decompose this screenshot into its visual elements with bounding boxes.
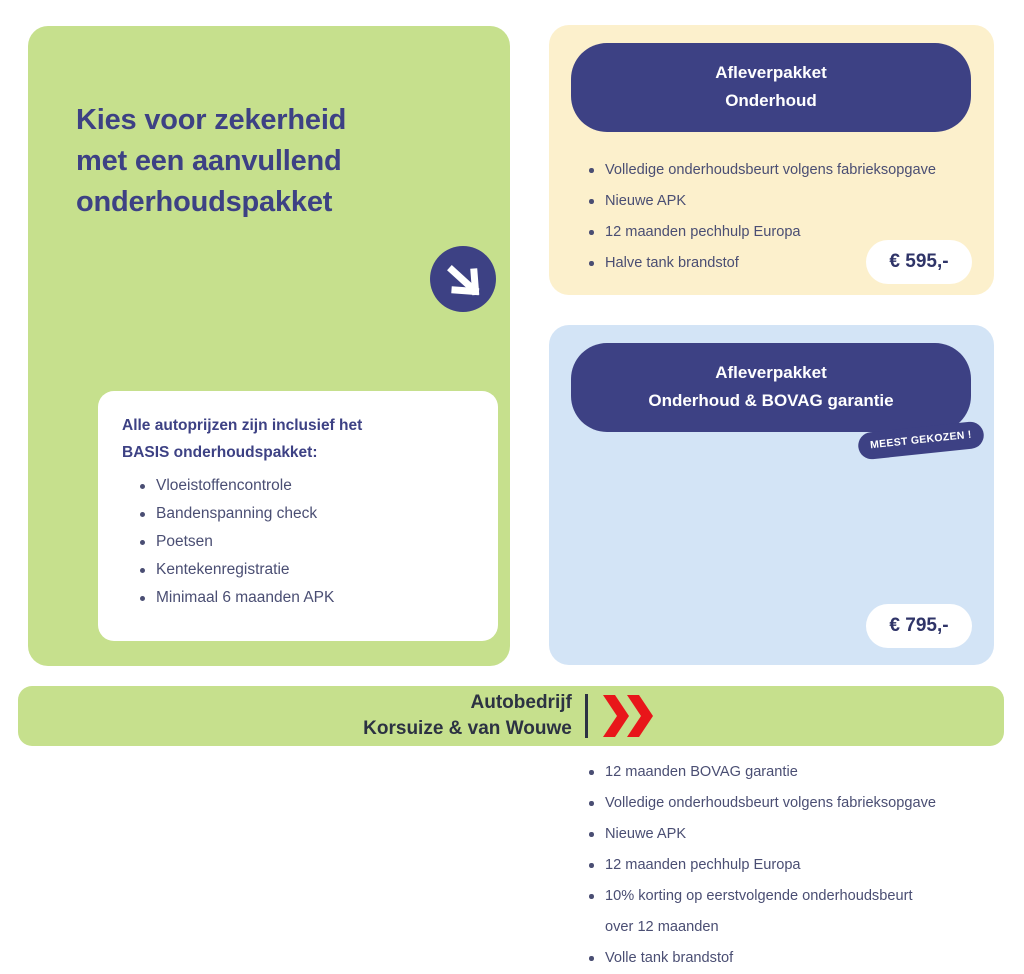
list-item: Nieuwe APK [605, 186, 1024, 217]
list-item: Volle tank brandstof [605, 943, 1024, 974]
basis-package-title: Alle autoprijzen zijn inclusief het BASI… [122, 413, 474, 466]
list-item: Bandenspanning check [156, 500, 474, 528]
page-title: Kies voor zekerheid met een aanvullend o… [76, 100, 446, 224]
list-item: Minimaal 6 maanden APK [156, 584, 474, 612]
package-header-line-2: Onderhoud & BOVAG garantie [571, 387, 971, 415]
list-item: 12 maanden BOVAG garantie [605, 757, 1024, 788]
list-item: 12 maanden pechhulp Europa [605, 850, 1024, 881]
package-header: Afleverpakket Onderhoud [571, 43, 971, 132]
package-feature-list: 12 maanden BOVAG garantie Volledige onde… [571, 757, 1024, 974]
company-name-line-1: Autobedrijf [363, 690, 572, 716]
basis-package-list: Vloeistoffencontrole Bandenspanning chec… [122, 472, 474, 612]
list-item: Volledige onderhoudsbeurt volgens fabrie… [605, 155, 1024, 186]
price-badge: € 595,- [866, 240, 972, 284]
package-header-line-1: Afleverpakket [571, 359, 971, 387]
headline-line-3: onderhoudspakket [76, 182, 446, 223]
footer-bar: Autobedrijf Korsuize & van Wouwe [18, 686, 1004, 746]
list-item: Kentekenregistratie [156, 556, 474, 584]
company-name-line-2: Korsuize & van Wouwe [363, 716, 572, 742]
package-header: Afleverpakket Onderhoud & BOVAG garantie [571, 343, 971, 432]
list-item-text: 10% korting op eerstvolgende onderhoudsb… [605, 888, 913, 904]
package-header-line-2: Onderhoud [571, 87, 971, 115]
promo-panel: Kies voor zekerheid met een aanvullend o… [28, 26, 510, 666]
arrow-down-right-icon [430, 246, 496, 312]
list-item: Vloeistoffencontrole [156, 472, 474, 500]
list-item: Volledige onderhoudsbeurt volgens fabrie… [605, 788, 1024, 819]
headline-line-2: met een aanvullend [76, 141, 446, 182]
list-item: Nieuwe APK [605, 819, 1024, 850]
list-item: 10% korting op eerstvolgende onderhoudsb… [605, 881, 1024, 943]
basis-title-line-2: BASIS onderhoudspakket: [122, 440, 474, 467]
list-item: Poetsen [156, 528, 474, 556]
basis-package-card: Alle autoprijzen zijn inclusief het BASI… [98, 391, 498, 641]
price-badge: € 795,- [866, 604, 972, 648]
basis-title-line-1: Alle autoprijzen zijn inclusief het [122, 413, 474, 440]
company-name: Autobedrijf Korsuize & van Wouwe [363, 690, 585, 741]
headline-line-1: Kies voor zekerheid [76, 100, 446, 141]
package-header-line-1: Afleverpakket [571, 59, 971, 87]
list-item-text-continued: over 12 maanden [605, 912, 1024, 943]
double-chevron-right-icon [588, 693, 659, 739]
